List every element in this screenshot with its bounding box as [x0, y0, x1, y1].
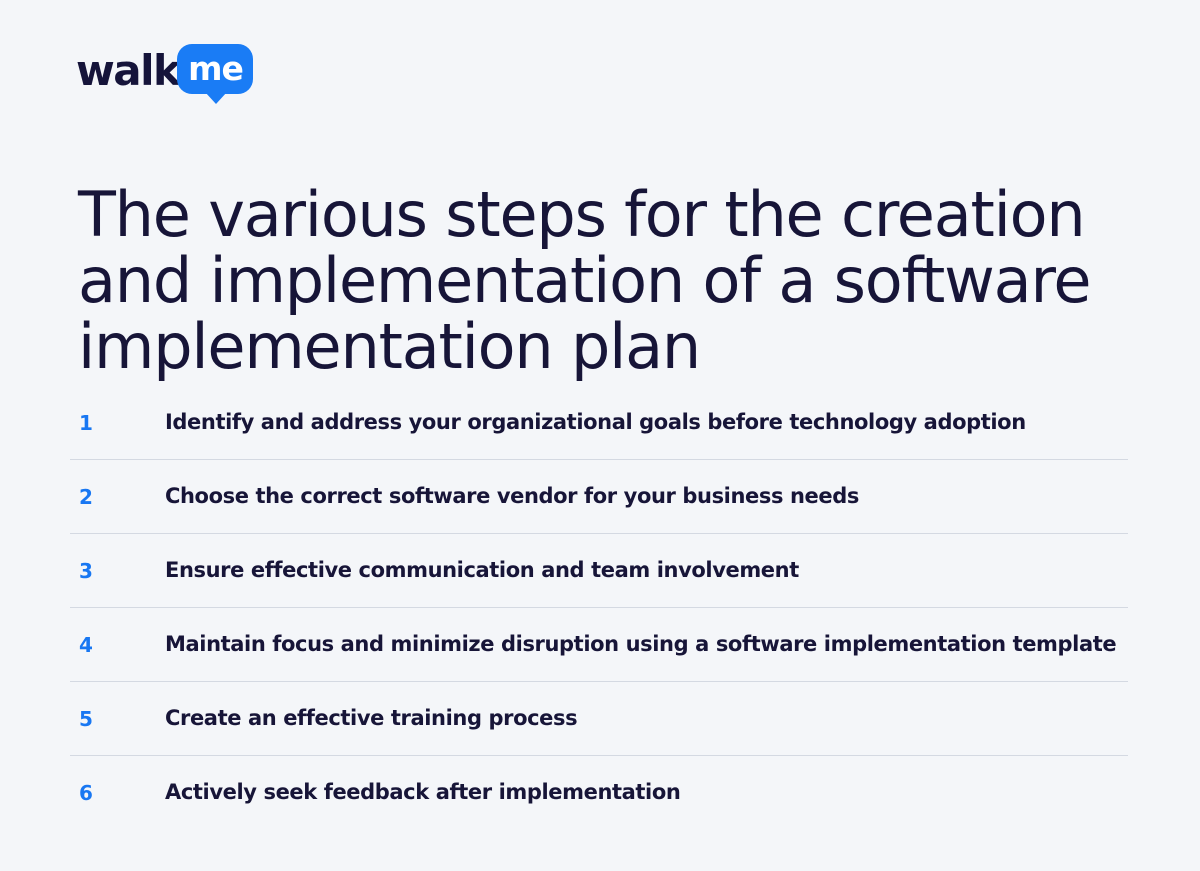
logo-bubble-shape: me	[177, 44, 253, 94]
step-number: 2	[70, 487, 165, 507]
step-label: Maintain focus and minimize disruption u…	[165, 632, 1116, 657]
step-number: 3	[70, 561, 165, 581]
list-item: 4 Maintain focus and minimize disruption…	[70, 607, 1128, 681]
step-label: Ensure effective communication and team …	[165, 558, 799, 583]
logo-bubble-text: me	[188, 52, 243, 85]
logo-wordmark: walk	[76, 46, 179, 96]
step-number: 6	[70, 783, 165, 803]
step-number: 4	[70, 635, 165, 655]
step-label: Choose the correct software vendor for y…	[165, 484, 859, 509]
list-item: 2 Choose the correct software vendor for…	[70, 459, 1128, 533]
list-item: 5 Create an effective training process	[70, 681, 1128, 755]
logo-bubble-tail-icon	[205, 92, 227, 104]
list-item: 6 Actively seek feedback after implement…	[70, 755, 1128, 829]
walkme-logo: walk me	[76, 44, 253, 100]
step-label: Create an effective training process	[165, 706, 577, 731]
step-number: 1	[70, 413, 165, 433]
infographic-page: walk me The various steps for the creati…	[0, 0, 1200, 871]
steps-list: 1 Identify and address your organization…	[70, 386, 1128, 829]
list-item: 3 Ensure effective communication and tea…	[70, 533, 1128, 607]
step-label: Identify and address your organizational…	[165, 410, 1026, 435]
page-title: The various steps for the creation and i…	[78, 182, 1098, 380]
logo-speech-bubble-icon: me	[177, 44, 253, 94]
list-item: 1 Identify and address your organization…	[70, 386, 1128, 459]
step-label: Actively seek feedback after implementat…	[165, 780, 680, 805]
step-number: 5	[70, 709, 165, 729]
